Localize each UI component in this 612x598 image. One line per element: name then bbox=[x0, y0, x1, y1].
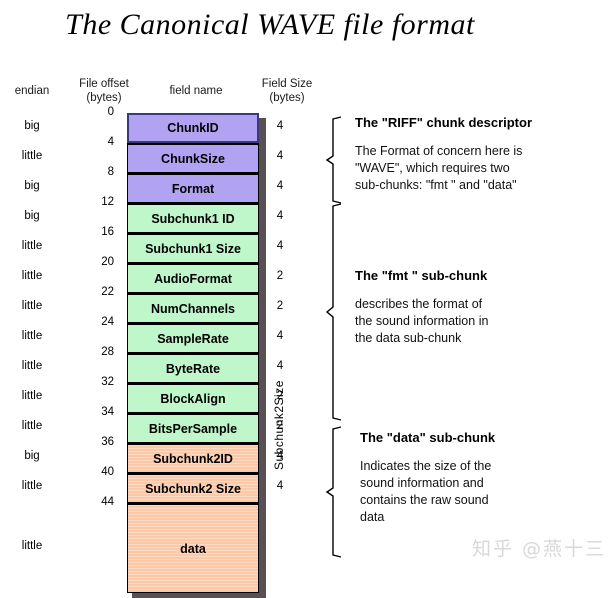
column-header-file-offset: File offset (bytes) bbox=[64, 77, 144, 105]
field-block-label: ByteRate bbox=[166, 362, 220, 376]
annotation-riff-line-3: sub-chunks: "fmt " and "data" bbox=[355, 177, 532, 194]
column-header-file-offset-line1: File offset bbox=[79, 78, 129, 90]
field-block-label: SampleRate bbox=[157, 332, 229, 346]
field-size-value: 2 bbox=[268, 270, 292, 282]
brace-riff bbox=[325, 116, 347, 204]
endian-value: little bbox=[2, 540, 62, 552]
column-header-field-size-line1: Field Size bbox=[262, 78, 313, 90]
endian-value: little bbox=[2, 240, 62, 252]
endian-value: big bbox=[2, 210, 62, 222]
field-block-label: ChunkID bbox=[167, 121, 218, 135]
field-block-label: Subchunk1 ID bbox=[151, 212, 234, 226]
file-offset-value: 34 bbox=[62, 406, 114, 418]
field-size-value: 4 bbox=[268, 210, 292, 222]
watermark: 知乎 @燕十三 bbox=[472, 534, 606, 561]
field-block: Format bbox=[127, 173, 259, 203]
field-size-value: 4 bbox=[268, 480, 292, 492]
file-offset-value: 12 bbox=[62, 196, 114, 208]
field-size-value: 4 bbox=[268, 360, 292, 372]
file-offset-value: 0 bbox=[62, 106, 114, 118]
field-block: Subchunk2ID bbox=[127, 443, 259, 473]
annotation-riff-line-1: The Format of concern here is bbox=[355, 143, 532, 160]
column-header-field-size: Field Size (bytes) bbox=[245, 77, 329, 105]
field-block: Subchunk1 ID bbox=[127, 203, 259, 233]
annotation-fmt-line-1: describes the format of bbox=[355, 296, 488, 313]
annotation-fmt: The "fmt " sub-chunk describes the forma… bbox=[355, 268, 488, 347]
file-offset-value: 32 bbox=[62, 376, 114, 388]
field-block-label: AudioFormat bbox=[154, 272, 232, 286]
field-block-label: NumChannels bbox=[151, 302, 235, 316]
file-offset-value: 4 bbox=[62, 136, 114, 148]
endian-value: big bbox=[2, 450, 62, 462]
field-block: ByteRate bbox=[127, 353, 259, 383]
column-header-endian-label: endian bbox=[15, 85, 50, 97]
field-size-value: 4 bbox=[268, 240, 292, 252]
annotation-data: The "data" sub-chunk Indicates the size … bbox=[360, 430, 495, 526]
annotation-data-body: Indicates the size of the sound informat… bbox=[360, 458, 495, 526]
field-block: BitsPerSample bbox=[127, 413, 259, 443]
file-offset-value: 44 bbox=[62, 496, 114, 508]
annotation-riff: The "RIFF" chunk descriptor The Format o… bbox=[355, 115, 532, 194]
file-offset-value: 28 bbox=[62, 346, 114, 358]
annotation-fmt-line-2: the sound information in bbox=[355, 313, 488, 330]
field-block: AudioFormat bbox=[127, 263, 259, 293]
annotation-riff-title: The "RIFF" chunk descriptor bbox=[355, 115, 532, 130]
file-offset-value: 16 bbox=[62, 226, 114, 238]
endian-value: big bbox=[2, 180, 62, 192]
brace-data bbox=[325, 426, 347, 559]
diagram-canvas: The Canonical WAVE file format endian Fi… bbox=[0, 0, 612, 567]
annotation-riff-body: The Format of concern here is "WAVE", wh… bbox=[355, 143, 532, 194]
field-size-value: 4 bbox=[268, 120, 292, 132]
annotation-data-title: The "data" sub-chunk bbox=[360, 430, 495, 445]
file-offset-value: 40 bbox=[62, 466, 114, 478]
endian-value: little bbox=[2, 270, 62, 282]
annotation-data-line-4: data bbox=[360, 509, 495, 526]
page-title: The Canonical WAVE file format bbox=[0, 8, 540, 42]
endian-value: little bbox=[2, 480, 62, 492]
field-block: Subchunk2 Size bbox=[127, 473, 259, 503]
column-header-field-size-line2: (bytes) bbox=[245, 91, 329, 105]
subchunk2size-vertical-label: Subchunk2Size bbox=[272, 380, 286, 470]
field-block-label: BitsPerSample bbox=[149, 422, 237, 436]
field-block: ChunkSize bbox=[127, 143, 259, 173]
field-block-label: Subchunk1 Size bbox=[145, 242, 241, 256]
field-block: Subchunk1 Size bbox=[127, 233, 259, 263]
annotation-data-line-1: Indicates the size of the bbox=[360, 458, 495, 475]
endian-value: little bbox=[2, 330, 62, 342]
column-header-field-name-label: field name bbox=[169, 85, 222, 97]
annotation-riff-line-2: "WAVE", which requires two bbox=[355, 160, 532, 177]
column-header-endian: endian bbox=[2, 84, 62, 98]
field-block-label: Subchunk2 Size bbox=[145, 482, 241, 496]
column-header-file-offset-line2: (bytes) bbox=[64, 91, 144, 105]
annotation-data-line-3: contains the raw sound bbox=[360, 492, 495, 509]
file-offset-value: 20 bbox=[62, 256, 114, 268]
annotation-data-line-2: sound information and bbox=[360, 475, 495, 492]
endian-value: little bbox=[2, 150, 62, 162]
annotation-fmt-body: describes the format of the sound inform… bbox=[355, 296, 488, 347]
annotation-fmt-title: The "fmt " sub-chunk bbox=[355, 268, 488, 283]
endian-value: little bbox=[2, 390, 62, 402]
field-block: SampleRate bbox=[127, 323, 259, 353]
field-block-label: ChunkSize bbox=[161, 152, 225, 166]
brace-fmt bbox=[325, 203, 347, 421]
field-block: ChunkID bbox=[127, 113, 259, 143]
annotation-fmt-line-3: the data sub-chunk bbox=[355, 330, 488, 347]
field-block-label: BlockAlign bbox=[160, 392, 225, 406]
field-block: BlockAlign bbox=[127, 383, 259, 413]
field-size-value: 4 bbox=[268, 180, 292, 192]
field-size-value: 2 bbox=[268, 300, 292, 312]
field-block-label: Subchunk2ID bbox=[153, 452, 233, 466]
endian-value: little bbox=[2, 420, 62, 432]
field-block: NumChannels bbox=[127, 293, 259, 323]
field-block-label: Format bbox=[172, 182, 214, 196]
file-offset-value: 36 bbox=[62, 436, 114, 448]
field-size-value: 4 bbox=[268, 150, 292, 162]
field-block-label: data bbox=[180, 542, 206, 556]
endian-value: little bbox=[2, 300, 62, 312]
field-block: data bbox=[127, 503, 259, 593]
endian-value: little bbox=[2, 360, 62, 372]
endian-value: big bbox=[2, 120, 62, 132]
column-header-field-name: field name bbox=[150, 84, 242, 98]
file-offset-value: 22 bbox=[62, 286, 114, 298]
file-offset-value: 24 bbox=[62, 316, 114, 328]
field-size-value: 4 bbox=[268, 330, 292, 342]
file-offset-value: 8 bbox=[62, 166, 114, 178]
